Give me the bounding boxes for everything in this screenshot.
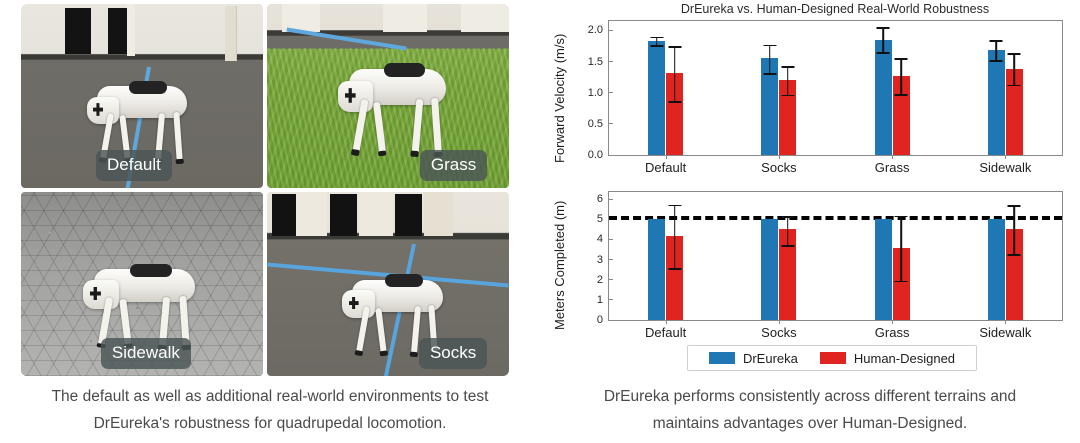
chart-panel: DrEureka vs. Human-Designed Real-World R…: [540, 0, 1080, 443]
robot-leg: [412, 99, 424, 154]
x-tick-label: Grass: [875, 160, 910, 175]
photo-grass: Grass: [267, 4, 509, 188]
y-tick-mark: [609, 239, 613, 240]
wall-block: [461, 4, 509, 32]
bar-dreureka-default: [648, 219, 665, 320]
legend-item-human-designed[interactable]: Human-Designed: [820, 351, 955, 366]
photo-socks: Socks: [267, 192, 509, 376]
error-bar-cap: [668, 205, 681, 207]
photo-panel: Default: [0, 0, 540, 443]
robot-saddle: [130, 264, 172, 277]
robot-head: [342, 290, 375, 318]
x-tick-mark: [779, 155, 780, 159]
error-bar-cap: [781, 66, 794, 68]
x-tick-label: Socks: [761, 160, 796, 175]
robot-leg: [431, 98, 442, 154]
photo-label-sidewalk: Sidewalk: [101, 338, 191, 369]
figure-page: Default: [0, 0, 1080, 443]
error-bar-cap: [895, 281, 908, 283]
x-tick-label: Default: [645, 325, 686, 340]
error-bar-cap: [877, 27, 890, 29]
wall-post: [225, 6, 237, 61]
legend-swatch-blue: [709, 352, 735, 364]
error-bar: [900, 58, 902, 94]
error-bar-cap: [668, 268, 681, 270]
y-tick-label: 0.0: [588, 149, 609, 161]
x-tick-mark: [1005, 155, 1006, 159]
bar-dreureka-sidewalk: [988, 219, 1005, 320]
error-bar-cap: [781, 216, 794, 218]
left-caption: The default as well as additional real-w…: [0, 383, 540, 437]
robot-leg: [373, 101, 386, 152]
robot-head: [87, 97, 120, 125]
legend-swatch-red: [820, 352, 846, 364]
error-bar-cap: [895, 216, 908, 218]
error-bar-cap: [781, 95, 794, 97]
bar-dreureka-grass: [875, 40, 892, 155]
bar-dreureka-default: [648, 41, 665, 155]
error-bar: [900, 216, 902, 281]
chart-legend: DrEureka Human-Designed: [687, 345, 977, 371]
error-bar-cap: [895, 58, 908, 60]
y-tick-mark: [609, 320, 613, 321]
error-bar: [787, 66, 789, 94]
chart-axes-meters-completed: 0123456DefaultSocksGrassSidewalk: [608, 191, 1063, 321]
photo-label-grass: Grass: [420, 150, 487, 181]
error-bar-cap: [763, 45, 776, 47]
error-bar-cap: [1008, 53, 1021, 55]
y-tick-mark: [609, 30, 613, 31]
wall-block: [296, 192, 327, 236]
y-tick-mark: [609, 199, 613, 200]
legend-label-dreureka: DrEureka: [743, 351, 798, 366]
error-bar-cap: [650, 37, 663, 39]
y-tick-label: 2: [597, 274, 609, 286]
error-bar-cap: [763, 73, 776, 75]
error-bar: [1014, 53, 1016, 84]
error-bar: [1014, 205, 1016, 254]
wall-block: [424, 192, 453, 236]
robot-leg: [375, 308, 387, 353]
wall-pillar: [127, 4, 134, 56]
robot-head: [338, 81, 373, 113]
error-bar-cap: [990, 60, 1003, 62]
right-caption: DrEureka performs consistently across di…: [540, 383, 1080, 437]
x-tick-label: Default: [645, 160, 686, 175]
error-bar: [674, 205, 676, 268]
photo-default: Default: [21, 4, 263, 188]
error-bar-cap: [1008, 254, 1021, 256]
left-caption-line-1: The default as well as additional real-w…: [0, 383, 540, 410]
error-bar: [769, 45, 771, 73]
y-tick-mark: [609, 61, 613, 62]
photo-grid: Default: [21, 4, 509, 376]
door-dark: [395, 194, 422, 236]
y-tick-mark: [609, 299, 613, 300]
error-bar-cap: [895, 94, 908, 96]
bar-dreureka-grass: [875, 219, 892, 320]
y-tick-mark: [609, 123, 613, 124]
door-dark: [272, 194, 296, 236]
y-tick-mark: [609, 155, 613, 156]
x-tick-mark: [666, 155, 667, 159]
error-bar: [882, 27, 884, 52]
error-bar: [996, 40, 998, 60]
error-bar-cap: [877, 52, 890, 54]
legend-item-dreureka[interactable]: DrEureka: [709, 351, 798, 366]
wall-block: [359, 192, 393, 236]
x-tick-mark: [666, 320, 667, 324]
x-tick-mark: [892, 320, 893, 324]
legend-label-human-designed: Human-Designed: [854, 351, 955, 366]
error-bar-cap: [781, 245, 794, 247]
x-tick-label: Sidewalk: [979, 160, 1031, 175]
error-bar-cap: [1008, 205, 1021, 207]
x-tick-label: Socks: [761, 325, 796, 340]
y-tick-label: 4: [597, 233, 609, 245]
y-tick-label: 5: [597, 213, 609, 225]
y-tick-label: 1.5: [588, 56, 609, 68]
y-axis-label-velocity: Forward Velocity (m/s): [552, 34, 567, 163]
x-tick-label: Grass: [875, 325, 910, 340]
error-bar-cap: [668, 46, 681, 48]
photo-sidewalk: Sidewalk: [21, 192, 263, 376]
y-tick-mark: [609, 259, 613, 260]
y-tick-mark: [609, 279, 613, 280]
chart-axes-forward-velocity: 0.00.51.01.52.0DefaultSocksGrassSidewalk: [608, 20, 1063, 156]
y-tick-label: 0.5: [588, 118, 609, 130]
robot-leg: [173, 112, 183, 161]
y-tick-mark: [609, 92, 613, 93]
error-bar-cap: [650, 45, 663, 47]
error-bar: [787, 216, 789, 246]
error-bar-cap: [1008, 85, 1021, 87]
x-tick-mark: [892, 155, 893, 159]
robot-saddle: [385, 274, 423, 287]
error-bar-cap: [668, 101, 681, 103]
y-axis-label-meters: Meters Completed (m): [552, 201, 567, 330]
x-tick-mark: [1005, 320, 1006, 324]
error-bar-cap: [990, 40, 1003, 42]
left-caption-line-2: DrEureka's robustness for quadrupedal lo…: [0, 410, 540, 437]
wall-block: [383, 4, 427, 32]
y-tick-label: 0: [597, 314, 609, 326]
y-tick-label: 2.0: [588, 24, 609, 36]
chart-title: DrEureka vs. Human-Designed Real-World R…: [600, 2, 1070, 16]
photo-label-default: Default: [96, 150, 172, 181]
right-caption-line-1: DrEureka performs consistently across di…: [540, 383, 1080, 410]
y-tick-label: 1.0: [588, 87, 609, 99]
robot-saddle: [384, 63, 425, 78]
y-tick-label: 3: [597, 254, 609, 266]
x-tick-label: Sidewalk: [979, 325, 1031, 340]
y-tick-label: 6: [597, 193, 609, 205]
photo-label-socks: Socks: [419, 338, 487, 369]
bar-dreureka-sidewalk: [988, 50, 1005, 155]
right-caption-line-2: maintains advantages over Human-Designed…: [540, 410, 1080, 437]
error-bar: [674, 46, 676, 101]
bar-dreureka-socks: [761, 219, 778, 320]
door-dark-left: [65, 8, 92, 54]
door-dark: [330, 194, 357, 236]
x-tick-mark: [779, 320, 780, 324]
robot-dog: [330, 44, 466, 165]
y-tick-label: 1: [597, 294, 609, 306]
robot-saddle: [129, 81, 167, 94]
